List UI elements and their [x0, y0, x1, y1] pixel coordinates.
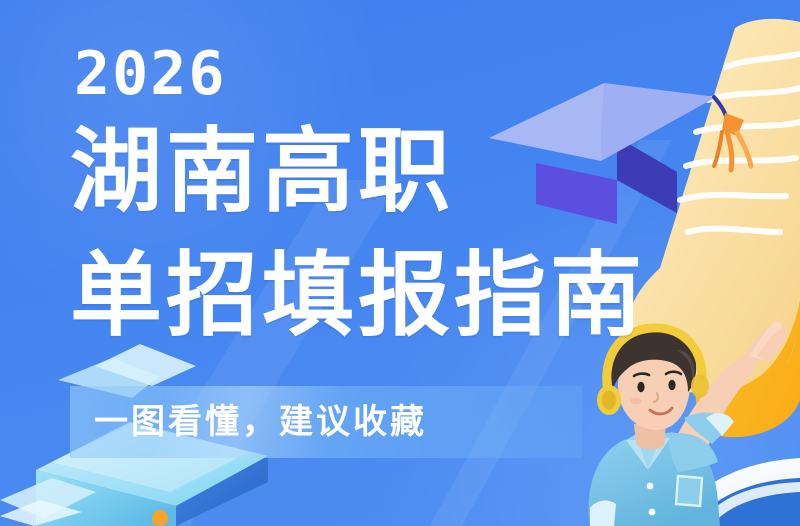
- year-label: 2026: [74, 44, 227, 104]
- subtitle-text: 一图看懂，建议收藏: [94, 400, 427, 444]
- headline-line-2: 单招填报指南: [70, 248, 646, 344]
- text-layer: 2026 湖南高职 单招填报指南 一图看懂，建议收藏: [0, 0, 800, 526]
- promo-poster: 2026 湖南高职 单招填报指南 一图看懂，建议收藏: [0, 0, 800, 526]
- headline-line-1: 湖南高职: [70, 124, 454, 220]
